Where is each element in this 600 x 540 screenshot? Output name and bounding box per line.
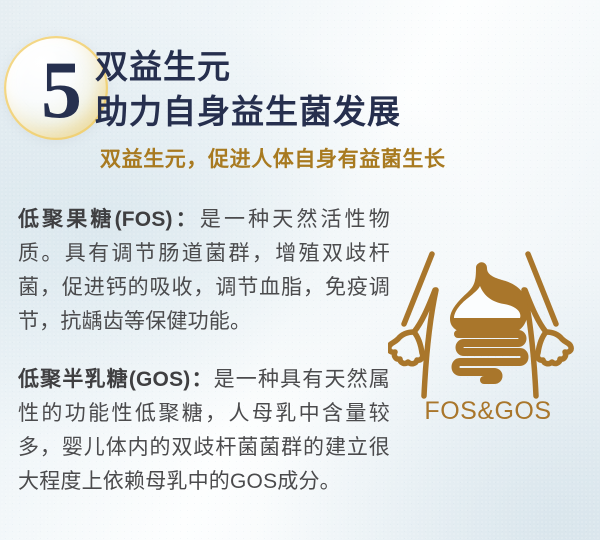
paragraph-fos-lead: 低聚果糖(FOS)：	[18, 208, 200, 231]
title-line-1: 双益生元	[95, 44, 565, 89]
digestive-system-with-arms-icon	[388, 246, 588, 406]
illustration-label: FOS&GOS	[388, 396, 588, 426]
poster-canvas: 5 双益生元 助力自身益生菌发展 双益生元，促进人体自身有益菌生长 低聚果糖(F…	[0, 0, 600, 540]
stomach-icon	[450, 262, 528, 334]
paragraph-gos: 低聚半乳糖(GOS)：是一种具有天然属性的功能性低聚糖，人母乳中含量较多，婴儿体…	[18, 363, 390, 499]
illustration: FOS&GOS	[388, 246, 588, 436]
title-line-2: 助力自身益生菌发展	[95, 89, 565, 134]
section-number: 5	[26, 42, 96, 138]
page-subtitle: 双益生元，促进人体自身有益菌生长	[100, 145, 570, 175]
paragraph-gos-lead: 低聚半乳糖(GOS)：	[18, 368, 214, 391]
intestine-icon	[456, 334, 525, 380]
paragraph-fos: 低聚果糖(FOS)：是一种天然活性物质。具有调节肠道菌群，增殖双歧杆菌，促进钙的…	[18, 203, 390, 339]
page-title: 双益生元 助力自身益生菌发展	[95, 44, 565, 134]
